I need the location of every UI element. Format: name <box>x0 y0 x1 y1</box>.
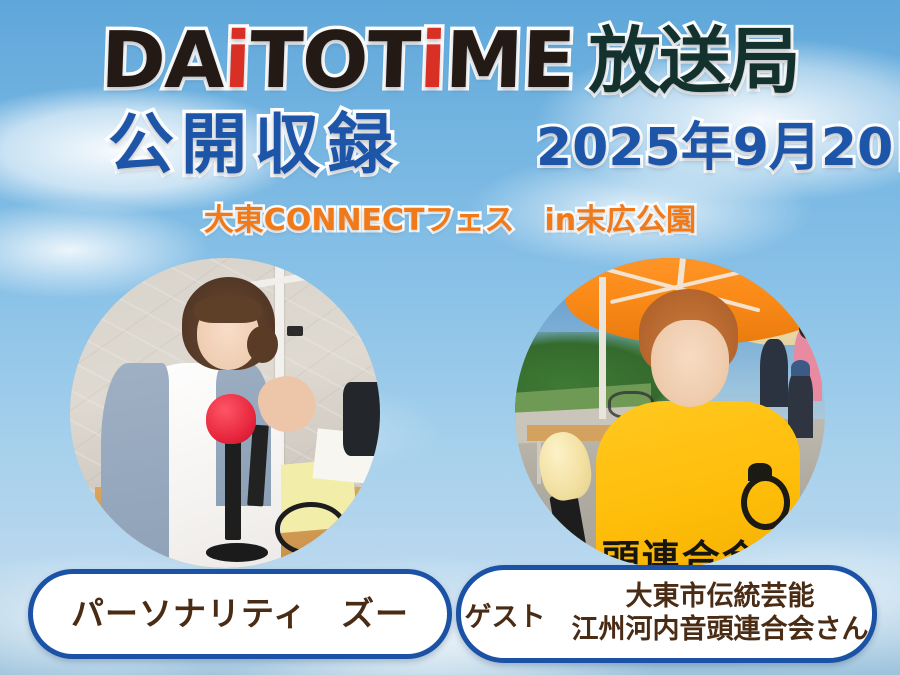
guest-photo-scene: 頭連合会 <box>515 258 825 568</box>
denim-vest-left <box>101 363 169 568</box>
poster-canvas: DAiTOTiME 放送局 公開収録 2025年9月20日 大東CONNECTフ… <box>0 0 900 675</box>
guest-pill-label: ゲスト <box>465 595 546 634</box>
event-date-label: 2025年9月20日 <box>536 122 900 174</box>
brand-title-part3: ME <box>444 16 576 106</box>
guest-pill-name-line1: 大東市伝統芸能 <box>626 581 815 612</box>
background-person-1 <box>760 339 788 407</box>
background-person-2-head <box>799 317 818 339</box>
guest-face <box>651 320 729 407</box>
brand-title-dot1: i <box>223 16 252 106</box>
hair-fringe <box>194 295 262 323</box>
mic-stem <box>225 435 241 540</box>
tagline-row: 大東CONNECTフェス in末広公園 <box>0 200 900 242</box>
event-venue-label: 大東CONNECTフェス in末広公園 <box>204 206 696 236</box>
tent-clip <box>287 326 303 336</box>
guest-pill-names: 大東市伝統芸能 江州河内音頭連合会さん <box>572 581 869 647</box>
guest-pill-name-line2: 江州河内音頭連合会さん <box>572 614 869 645</box>
guest-pill: ゲスト 大東市伝統芸能 江州河内音頭連合会さん <box>456 565 877 663</box>
headphones <box>275 502 347 555</box>
guest-photo: 頭連合会 <box>515 258 825 568</box>
personality-pill-label: パーソナリティ ズー <box>71 595 409 634</box>
personality-pill: パーソナリティ ズー <box>28 569 452 659</box>
mic-stand-base <box>206 543 268 562</box>
brand-title-part2: TOT <box>249 16 422 106</box>
tshirt-kanji-text: 頭連合会 <box>602 528 794 568</box>
personality-photo <box>70 258 380 568</box>
headline-row: DAiTOTiME 放送局 <box>0 8 900 113</box>
event-type-label: 公開収録 <box>108 112 400 178</box>
red-microphone-windscreen <box>206 394 256 444</box>
station-title: 放送局 <box>589 25 799 97</box>
guest-pill-content: ゲスト 大東市伝統芸能 江州河内音頭連合会さん <box>465 581 869 647</box>
subhead-row: 公開収録 2025年9月20日 <box>0 108 900 196</box>
tent-support-pole <box>599 277 606 420</box>
brand-title-part1: DA <box>100 16 226 106</box>
background-person-3-cap <box>791 360 810 376</box>
hair-bun <box>247 326 278 363</box>
brand-title: DAiTOTiME <box>100 22 576 100</box>
equipment-case <box>343 382 380 456</box>
personality-photo-scene <box>70 258 380 568</box>
